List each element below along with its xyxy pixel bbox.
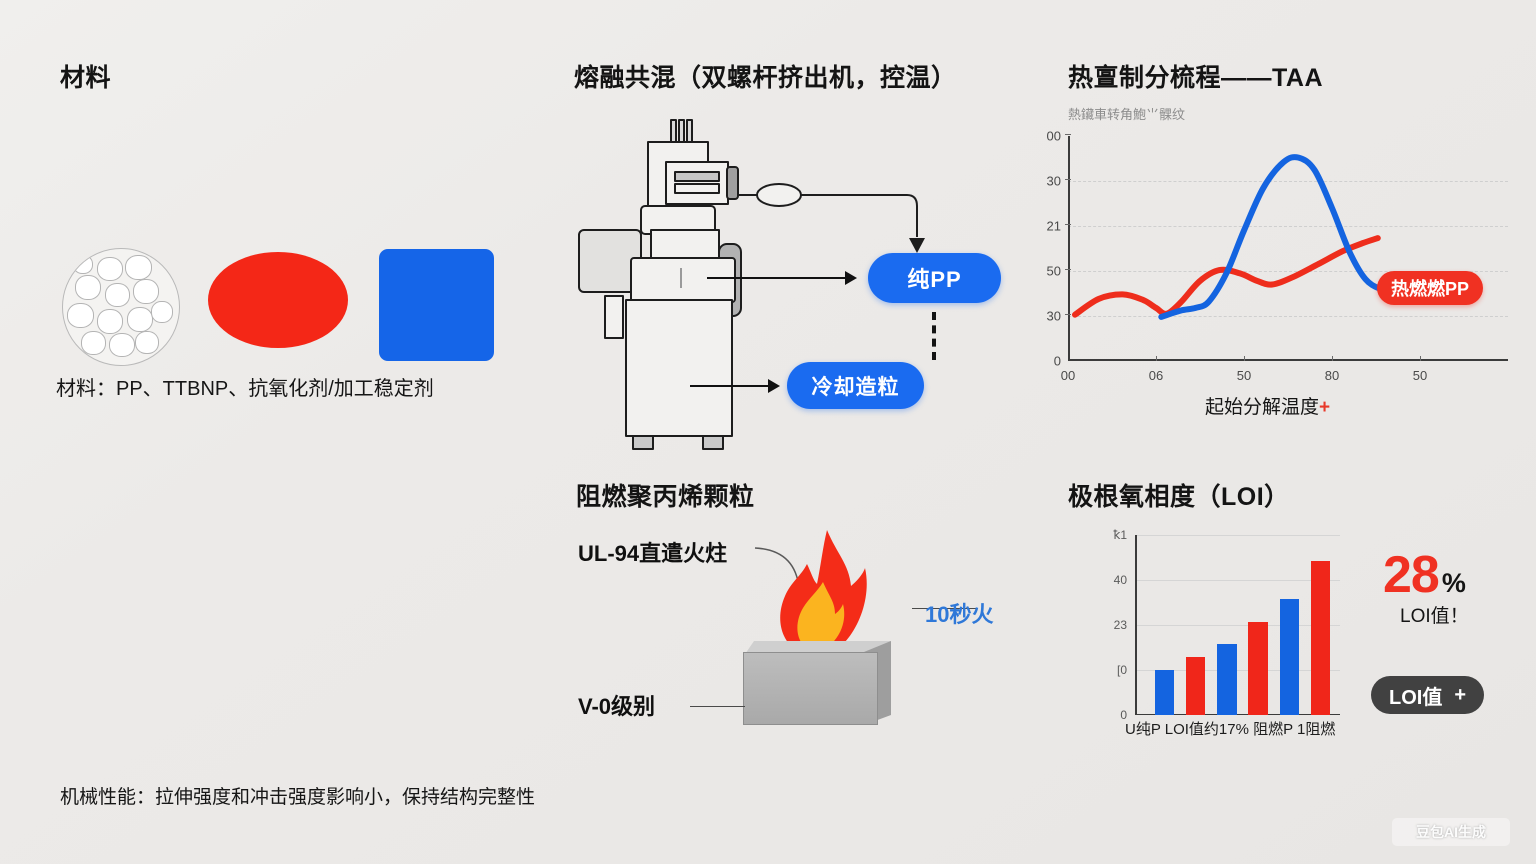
infographic-canvas: 材料 材料：PP、TTBNP、抗氧化剂/加工稳定剂 熔融共混（双螺杆挤出机，控温…	[0, 0, 1536, 864]
loi-highlight-unit: %	[1442, 568, 1466, 598]
specimen-front-face	[743, 652, 878, 725]
y-tick-label: 30	[1047, 174, 1061, 189]
flame-seconds-label: 10秒火	[925, 597, 993, 629]
x-tick-label: 50	[1413, 368, 1427, 383]
pellet	[75, 275, 101, 300]
pellet	[67, 303, 94, 328]
footer-note: 机械性能：拉伸强度和冲击强度影响小，保持结构完整性	[60, 782, 535, 809]
pellet	[97, 309, 123, 334]
red-ellipse-shape	[208, 252, 348, 348]
tga-curves	[1068, 136, 1508, 361]
y-tick-label: 21	[1047, 219, 1061, 234]
pellet	[73, 255, 93, 274]
loi-x-category-labels: U纯P LOI值约17% 阻燃P 1阻燃	[1125, 718, 1335, 739]
pellet	[105, 283, 130, 307]
bar	[1280, 599, 1299, 715]
loi-plot-area: 0[02340ꝁ1	[1135, 535, 1340, 715]
bar	[1155, 670, 1174, 715]
loi-badge[interactable]: LOI值 +	[1371, 676, 1484, 714]
dashed-connector	[932, 312, 936, 360]
cooling-pelletizing-pill[interactable]: 冷却造粒	[787, 362, 924, 409]
gridline	[1135, 535, 1340, 536]
arrow-to-cooling-head	[768, 379, 780, 393]
pellet	[97, 257, 123, 281]
bar	[1248, 622, 1267, 715]
gridline	[1135, 625, 1340, 626]
blue-square-shape	[379, 249, 494, 361]
tga-plus-icon: +	[1319, 397, 1330, 418]
rating-leader-line	[690, 706, 745, 707]
v0-rating-label: V-0级别	[578, 689, 655, 721]
pellet	[81, 331, 106, 355]
ul94-label: UL-94直遣火炷	[578, 536, 727, 568]
y-tick-label: 50	[1047, 264, 1061, 279]
plus-icon: +	[1454, 684, 1466, 707]
bar	[1186, 657, 1205, 715]
flame-test-title: 阻燃聚丙烯颗粒	[576, 477, 755, 513]
arrow-to-cooling-line	[690, 385, 770, 387]
loi-highlight-caption: LOI值！	[1400, 601, 1469, 628]
x-tick-label: 80	[1325, 368, 1339, 383]
loi-badge-label: LOI值	[1389, 681, 1442, 710]
pure-pp-pill[interactable]: 纯PP	[868, 253, 1001, 303]
tga-series-badge[interactable]: 热燃燃PP	[1377, 271, 1483, 305]
pellet	[109, 333, 135, 357]
x-tick-label: 50	[1237, 368, 1251, 383]
y-tick-label: ꝁ1	[1113, 528, 1127, 542]
arrow-to-pure-pp-line	[707, 277, 847, 279]
tga-chart-subtitle: 熱鑶車转角鮑⺌髁纹	[1068, 104, 1185, 123]
arrow-to-pure-pp-head	[845, 271, 857, 285]
x-tick-label: 06	[1149, 368, 1163, 383]
materials-title: 材料	[60, 58, 111, 94]
tga-plot-area: 03050213000 0006508050	[1068, 136, 1508, 361]
tga-x-axis-label: 起始分解温度+	[1205, 392, 1330, 419]
pellet	[135, 331, 159, 354]
y-tick-label: 00	[1047, 129, 1061, 144]
y-tick-label: 30	[1047, 309, 1061, 324]
extruder-svg	[575, 110, 785, 455]
tga-chart-title: 热亶制分梳程——TAA	[1068, 58, 1323, 94]
pellet	[151, 301, 173, 323]
loi-chart-title: 极根氧相度（LOI）	[1068, 477, 1290, 513]
x-tick-label: 00	[1061, 368, 1075, 383]
watermark: 豆包AI生成	[1392, 818, 1510, 846]
y-tick-label: 23	[1114, 618, 1127, 632]
loi-highlight-number: 28	[1383, 546, 1439, 604]
y-tick-label: [0	[1117, 663, 1127, 677]
y-tick-label: 40	[1114, 573, 1127, 587]
bar	[1217, 644, 1236, 715]
blue-curve	[1161, 157, 1392, 317]
materials-caption: 材料：PP、TTBNP、抗氧化剂/加工稳定剂	[56, 372, 434, 401]
bar	[1311, 561, 1330, 715]
tga-x-axis-label-text: 起始分解温度	[1205, 397, 1319, 418]
blending-title: 熔融共混（双螺杆挤出机，控温）	[574, 58, 957, 94]
twin-screw-extruder-diagram	[575, 110, 785, 455]
pellet	[125, 255, 152, 280]
gridline	[1135, 580, 1340, 581]
y-tick-mark	[1065, 134, 1071, 135]
pellet-cluster-icon	[62, 248, 180, 366]
pellet	[127, 307, 153, 332]
loi-y-axis	[1135, 535, 1137, 715]
loi-highlight-value: 28%	[1383, 545, 1466, 605]
pellet	[133, 279, 159, 304]
y-tick-label: 0	[1054, 354, 1061, 369]
